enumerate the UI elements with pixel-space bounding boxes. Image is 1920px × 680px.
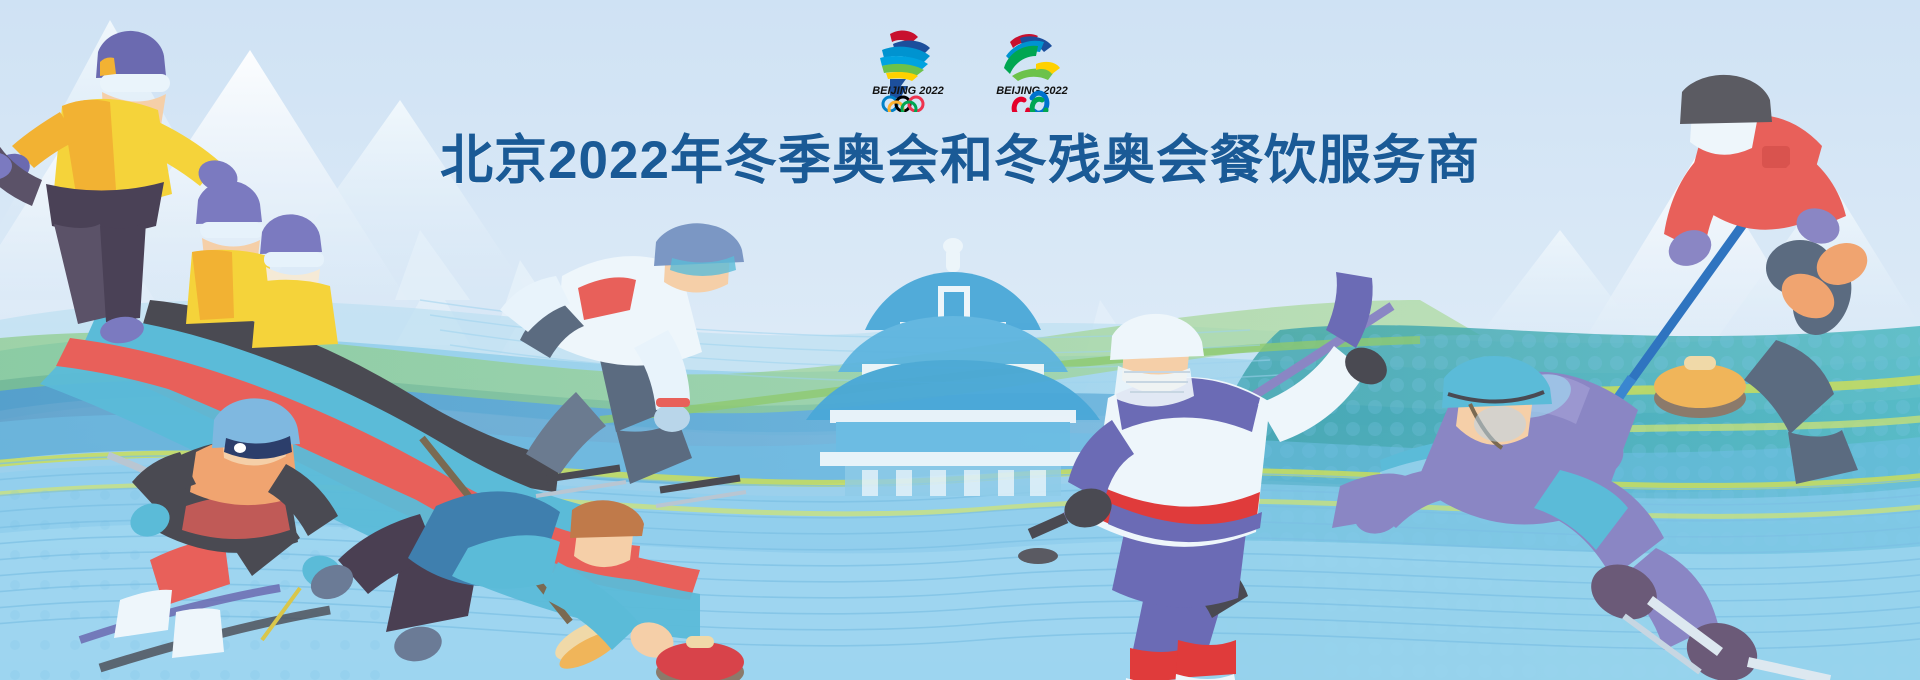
hockey-puck [1018, 548, 1058, 564]
athlete-ice-hockey-player [1018, 272, 1394, 680]
emblems-group: BEIJING 2022 [860, 24, 1080, 112]
page-title: 北京2022年冬季奥会和冬残奥会餐饮服务商 [0, 118, 1920, 194]
curling-stone-right [1654, 356, 1746, 418]
bobsled-rider-2 [252, 214, 338, 348]
olympic-banner: BEIJING 2022 [0, 0, 1920, 680]
athlete-speed-skater-right [1349, 356, 1830, 680]
paralympic-emblem: BEIJING 2022 [984, 24, 1080, 112]
olympic-wordmark: BEIJING 2022 [872, 85, 944, 97]
olympic-emblem: BEIJING 2022 [860, 24, 956, 112]
paralympic-emblem-svg: BEIJING 2022 [984, 24, 1080, 112]
beijing-2022-ribbon-paralympic [1004, 34, 1060, 81]
olympic-rings-icon [883, 97, 923, 112]
olympic-emblem-svg: BEIJING 2022 [860, 24, 956, 112]
